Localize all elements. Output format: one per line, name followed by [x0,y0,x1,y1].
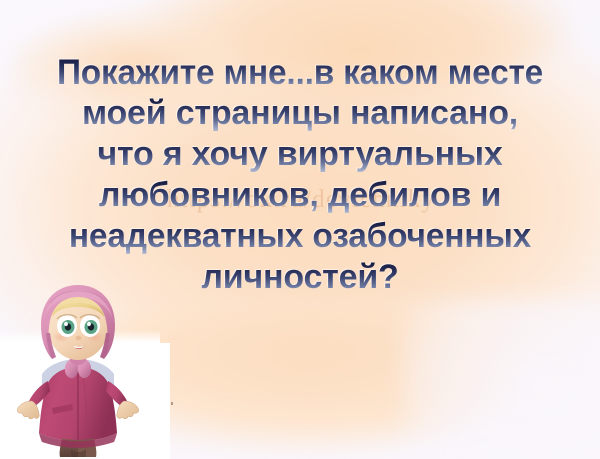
quote-line-2: моей страницы написано, [0,93,600,134]
quote-text-block: Покажите мне...в каком месте моей страни… [0,52,600,298]
meme-image-canvas: https://ok.ru/devichniky Покажите мне...… [0,0,600,459]
masha-character-image [16,281,140,459]
dust-speck [171,402,173,405]
masha-nose [76,336,82,340]
quote-line-3: что я хочу виртуальных [0,134,600,175]
quote-line-5: неадекватных озабоченных [5,216,596,257]
quote-line-4: любовников, дебилов и [0,175,600,216]
quote-line-1: Покажите мне...в каком месте [14,52,587,93]
background-corner-fade [400,299,600,459]
